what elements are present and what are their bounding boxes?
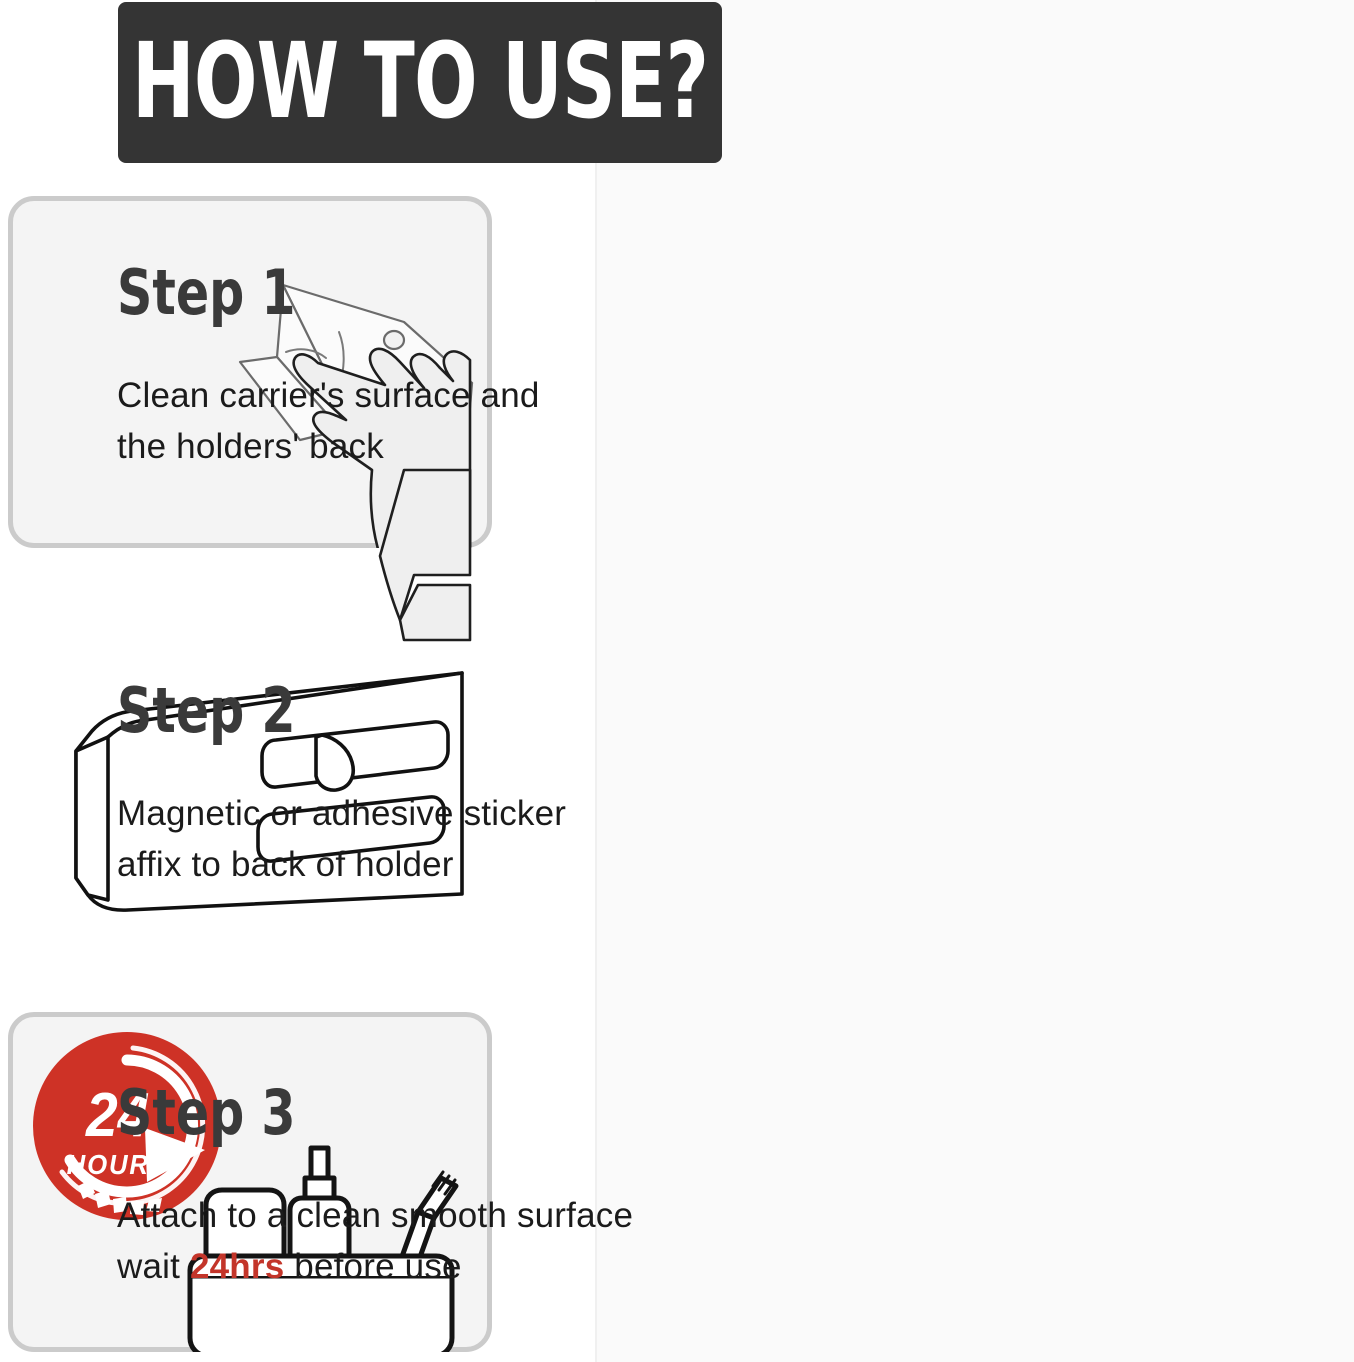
step-1-text-block: Step 1 Clean carrier's surface and the h… xyxy=(117,262,757,472)
step-2-text-block: Step 2 Magnetic or adhesive sticker affi… xyxy=(117,680,757,890)
step-3-body-after: before use xyxy=(284,1247,461,1286)
step-3-text-block: Step 3 Attach to a clean smooth surface … xyxy=(117,1082,757,1292)
step-1-body: Clean carrier's surface and the holders'… xyxy=(117,370,757,472)
step-1-title: Step 1 xyxy=(117,262,680,324)
page-title: HOW TO USE? xyxy=(132,29,708,133)
step-2-title: Step 2 xyxy=(117,680,680,742)
step-2-body: Magnetic or adhesive sticker affix to ba… xyxy=(117,788,757,890)
header-banner: HOW TO USE? xyxy=(118,2,722,163)
step-3-body: Attach to a clean smooth surface wait 24… xyxy=(117,1190,757,1292)
how-to-use-infographic: 24 HOURS xyxy=(0,0,1354,1362)
step-3-highlight: 24hrs xyxy=(190,1247,284,1286)
step-3-title: Step 3 xyxy=(117,1082,680,1144)
